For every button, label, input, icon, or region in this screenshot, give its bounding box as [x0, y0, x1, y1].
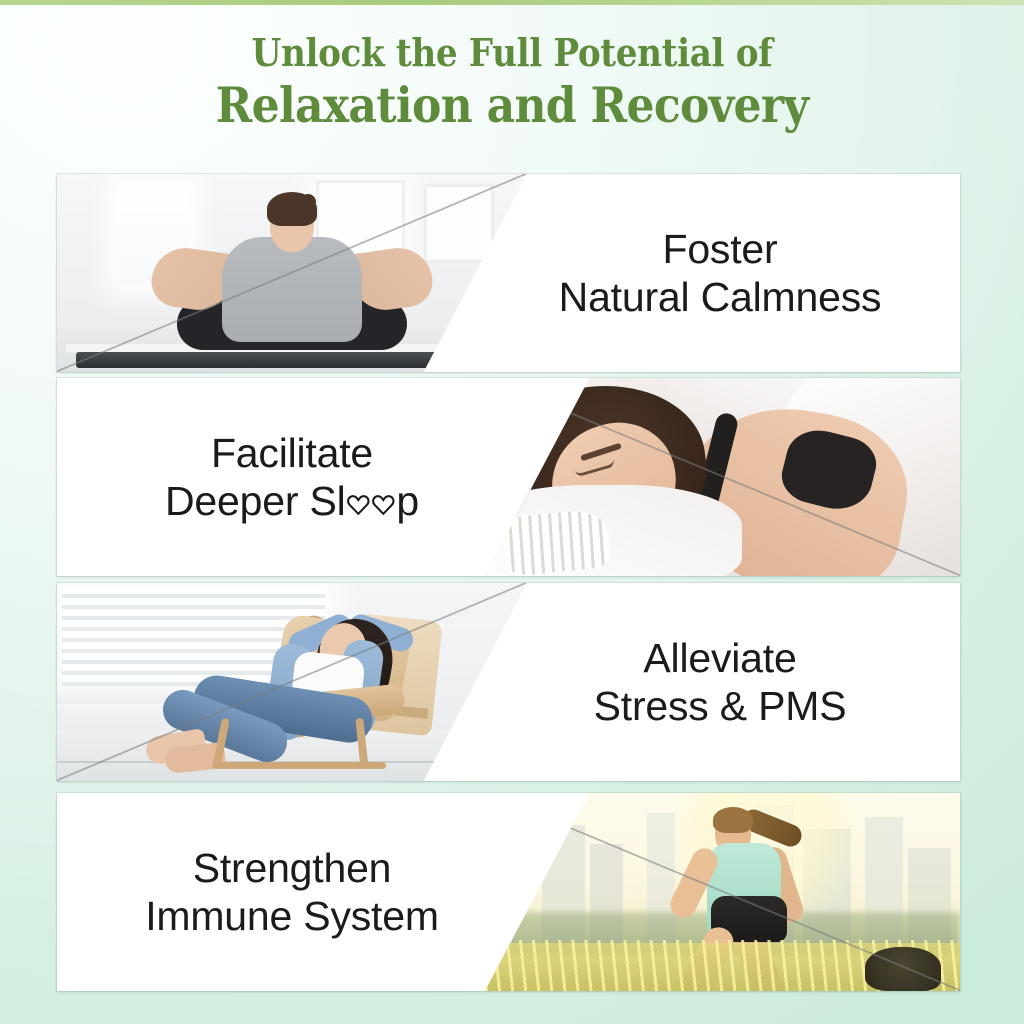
panel-2-caption-line-2-suffix: p — [396, 478, 419, 524]
heart-outline-icon — [371, 492, 396, 517]
panel-2-caption-line-2: Deeper Slp — [165, 477, 419, 525]
page-title: Unlock the Full Potential of Relaxation … — [0, 34, 1024, 130]
panel-4-caption-line-1: Strengthen — [145, 844, 439, 892]
infographic-root: Unlock the Full Potential of Relaxation … — [0, 0, 1024, 1024]
panel-1-caption: Foster Natural Calmness — [440, 174, 960, 372]
benefit-panel-1[interactable]: Foster Natural Calmness — [57, 174, 960, 372]
panel-1-caption-line-2: Natural Calmness — [559, 273, 882, 321]
panel-2-caption-line-1: Facilitate — [165, 429, 419, 477]
panel-2-caption: Facilitate Deeper Slp — [57, 378, 577, 576]
panel-2-caption-line-2-prefix: Deeper Sl — [165, 478, 346, 524]
headline-line-2: Relaxation and Recovery — [51, 81, 973, 130]
benefit-panel-2[interactable]: Facilitate Deeper Slp — [57, 378, 960, 576]
top-accent-rule — [0, 0, 1024, 5]
panel-3-caption-line-1: Alleviate — [594, 634, 847, 682]
headline-line-1: Unlock the Full Potential of — [51, 34, 973, 72]
panel-3-caption-line-2: Stress & PMS — [594, 682, 847, 730]
panel-3-caption: Alleviate Stress & PMS — [440, 583, 960, 781]
panel-4-caption: Strengthen Immune System — [57, 793, 577, 991]
heart-outline-icon — [346, 492, 371, 517]
benefit-panel-3[interactable]: Alleviate Stress & PMS — [57, 583, 960, 781]
panel-1-caption-line-1: Foster — [559, 225, 882, 273]
benefit-panel-4[interactable]: Strengthen Immune System — [57, 793, 960, 991]
panel-4-caption-line-2: Immune System — [145, 892, 439, 940]
